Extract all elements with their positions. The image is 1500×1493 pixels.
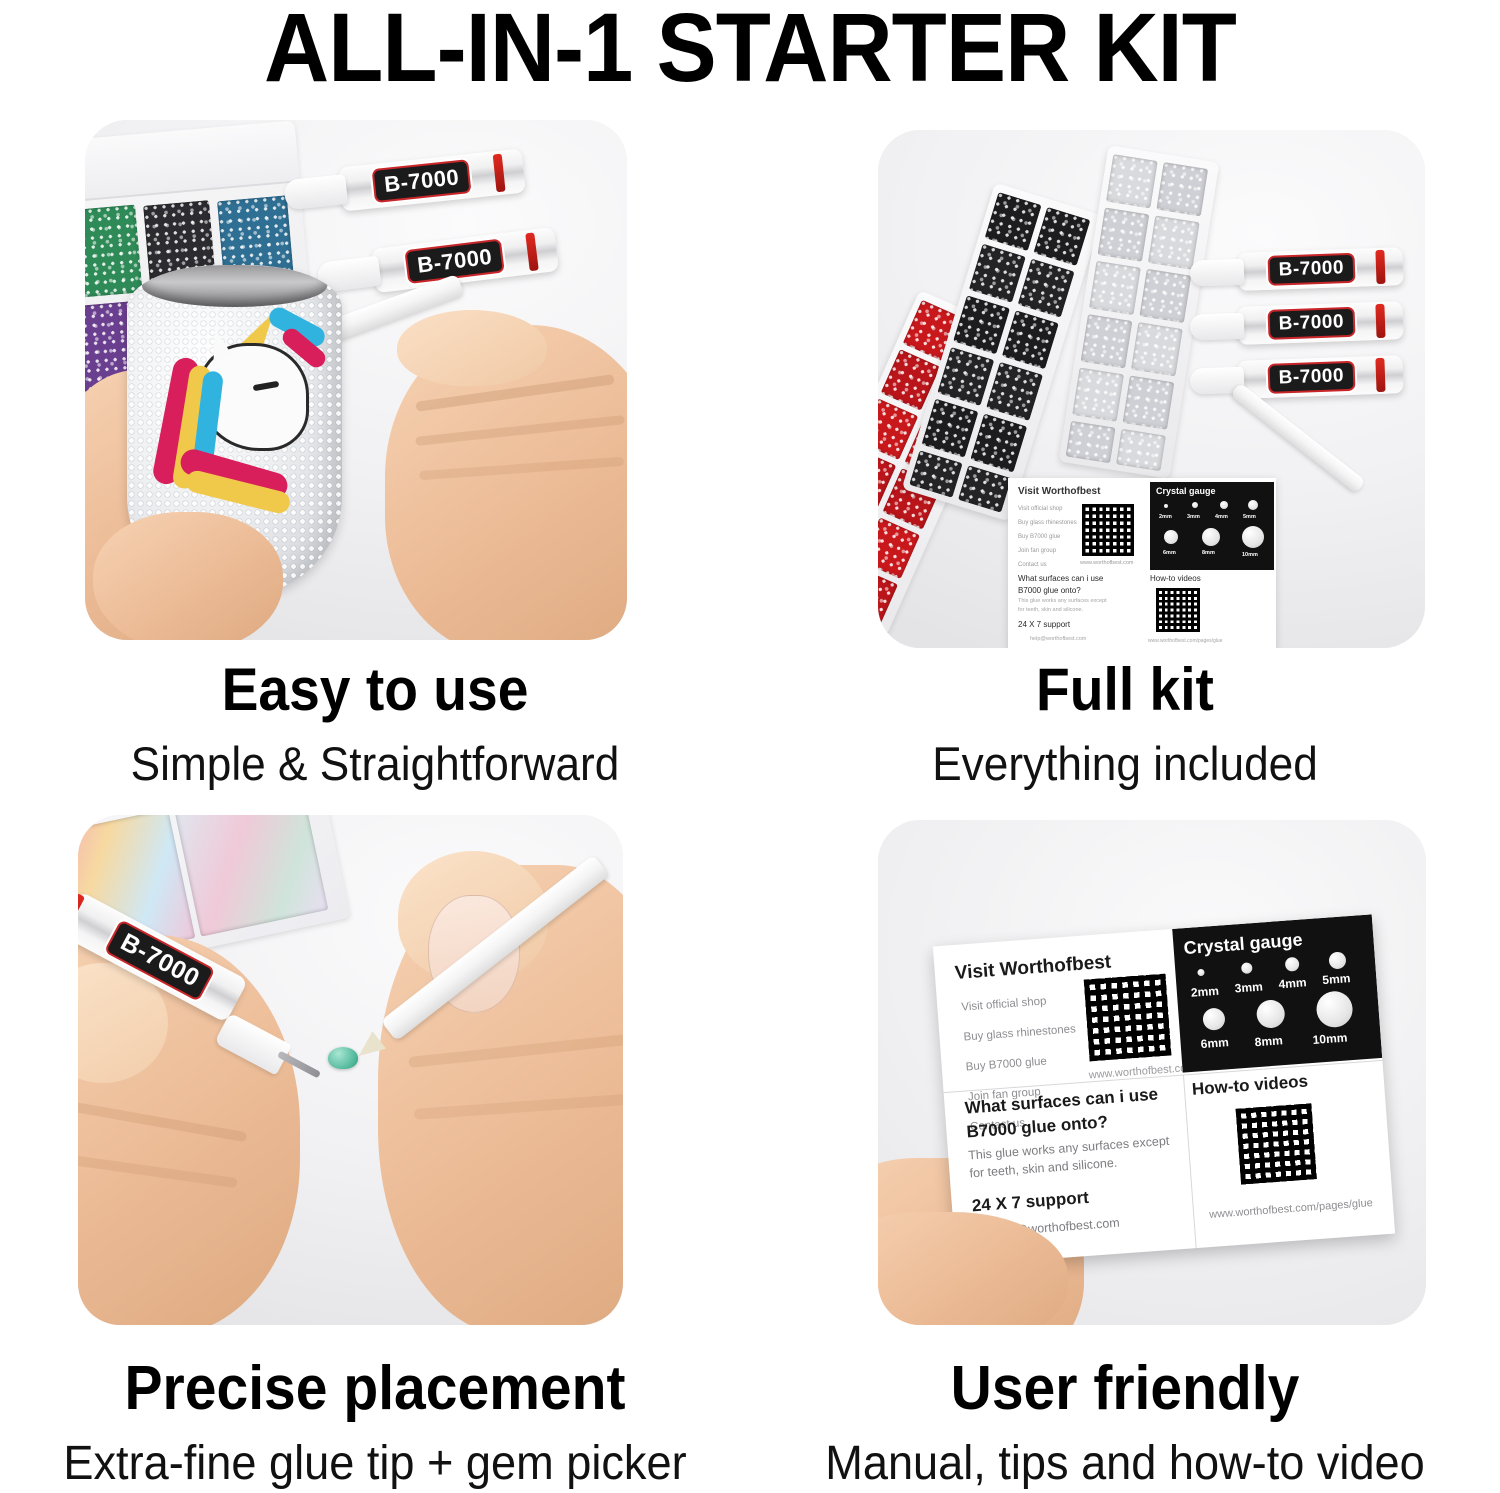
caption-sub-user-friendly: Manual, tips and how-to video bbox=[773, 1440, 1478, 1488]
tray-cell bbox=[1139, 269, 1191, 323]
card-mini-howto-heading: How-to videos bbox=[1150, 574, 1201, 583]
glue-nozzle bbox=[1190, 313, 1245, 341]
photo-full-kit: B-7000 B-7000 B-7000 Visit Worthofbest V… bbox=[878, 130, 1425, 648]
card-mini-url: www.worthofbest.com bbox=[1080, 560, 1134, 566]
gauge-label-5mm: 5mm bbox=[1243, 514, 1256, 520]
gauge-dot-6mm bbox=[1202, 1007, 1226, 1031]
gauge-label-3mm: 3mm bbox=[1234, 980, 1263, 996]
gauge-label-8mm: 8mm bbox=[1254, 1033, 1283, 1049]
gauge-dot-5mm bbox=[1328, 951, 1346, 969]
bullet: Contact us bbox=[1018, 558, 1077, 572]
gauge-label-6mm: 6mm bbox=[1163, 550, 1176, 556]
gauge-dot-10mm bbox=[1242, 526, 1264, 548]
photo-user-friendly: Visit Worthofbest Visit official shop Bu… bbox=[878, 820, 1426, 1325]
tube-red-stripe bbox=[492, 153, 505, 192]
caption-sub-easy-to-use: Simple & Straightforward bbox=[23, 740, 728, 787]
card-mini-heading: Visit Worthofbest bbox=[1018, 486, 1100, 497]
qr-code-shop bbox=[1084, 974, 1172, 1062]
tray-cell bbox=[1148, 215, 1200, 269]
card-fold-vertical bbox=[1183, 1074, 1197, 1248]
card-mini-support: 24 X 7 support bbox=[1018, 620, 1070, 629]
tube-red-stripe bbox=[525, 232, 539, 272]
tray-cell bbox=[1018, 259, 1075, 318]
tray-cell bbox=[1002, 310, 1059, 369]
tray-cell bbox=[1131, 322, 1183, 376]
tube-red-stripe bbox=[1375, 250, 1385, 284]
gauge-dot-8mm bbox=[1202, 528, 1220, 546]
page-title: ALL-IN-1 STARTER KIT bbox=[53, 0, 1448, 101]
tray-cell bbox=[1089, 261, 1141, 315]
gauge-label-5mm: 5mm bbox=[1322, 971, 1351, 987]
bullet: Join fan group bbox=[1018, 544, 1077, 558]
fingers bbox=[93, 512, 283, 640]
gauge-dot-6mm bbox=[1164, 530, 1178, 544]
tumbler-rim bbox=[142, 265, 327, 307]
crystal-gauge-mini: Crystal gauge 2mm 3mm 4mm 5mm 6mm 8mm 10… bbox=[1150, 482, 1274, 570]
tray-cell bbox=[174, 815, 329, 937]
b7000-glue-tube: B-7000 bbox=[1237, 301, 1403, 345]
photo-precise-placement: B-7000 bbox=[78, 815, 623, 1325]
b7000-glue-tube: B-7000 bbox=[1237, 247, 1403, 291]
qr-code bbox=[1082, 504, 1134, 556]
tray-cell bbox=[1066, 421, 1116, 464]
instruction-card-mini: Visit Worthofbest Visit official shop Bu… bbox=[1008, 478, 1276, 648]
tube-red-stripe bbox=[1375, 304, 1385, 338]
tray-cell bbox=[986, 362, 1043, 421]
b7000-glue-tube: B-7000 bbox=[1237, 355, 1403, 399]
card-mini-howto-url: www.worthofbest.com/pages/glue bbox=[1148, 638, 1222, 644]
caption-heading-precise-placement: Precise placement bbox=[30, 1358, 720, 1420]
gauge-dot-2mm bbox=[1164, 504, 1168, 508]
tray-cell bbox=[878, 517, 920, 579]
tube-red-stripe bbox=[78, 893, 85, 935]
glue-label: B-7000 bbox=[1267, 307, 1355, 340]
gauge-label-2mm: 2mm bbox=[1159, 514, 1172, 520]
gauge-dot-3mm bbox=[1241, 962, 1253, 974]
gauge-label-8mm: 8mm bbox=[1202, 550, 1215, 556]
bullet: Buy B7000 glue bbox=[1018, 530, 1077, 544]
gauge-dot-3mm bbox=[1192, 502, 1198, 508]
gauge-label-10mm: 10mm bbox=[1312, 1030, 1348, 1047]
gauge-dot-8mm bbox=[1256, 999, 1286, 1029]
tray-cell bbox=[1122, 375, 1174, 429]
caption-heading-easy-to-use: Easy to use bbox=[30, 660, 720, 720]
glue-label: B-7000 bbox=[372, 159, 472, 203]
infographic-page: ALL-IN-1 STARTER KIT B-7000 B-7000 bbox=[0, 0, 1500, 1493]
thumb bbox=[397, 310, 547, 386]
glue-nozzle bbox=[1190, 259, 1245, 287]
gauge-title: Crystal gauge bbox=[1156, 486, 1216, 496]
tray-cell bbox=[1081, 314, 1133, 368]
glue-label: B-7000 bbox=[1267, 361, 1355, 394]
tray-cell bbox=[969, 244, 1026, 303]
gauge-dot-5mm bbox=[1248, 500, 1258, 510]
bullet: Visit official shop bbox=[1018, 502, 1077, 516]
qr-code bbox=[1156, 588, 1200, 632]
card-howto-url: www.worthofbest.com/pages/glue bbox=[1209, 1197, 1373, 1221]
tube-red-stripe bbox=[1375, 358, 1385, 392]
caption-heading-full-kit: Full kit bbox=[780, 660, 1470, 720]
tray-cell bbox=[1097, 207, 1149, 261]
tray-cell bbox=[1116, 429, 1166, 472]
tray-cell bbox=[921, 399, 978, 458]
gauge-label-4mm: 4mm bbox=[1278, 975, 1307, 991]
instruction-card: Visit Worthofbest Visit official shop Bu… bbox=[933, 914, 1395, 1265]
gauge-dot-2mm bbox=[1197, 969, 1204, 976]
gauge-label-6mm: 6mm bbox=[1200, 1035, 1229, 1051]
tray-cell bbox=[985, 192, 1042, 251]
card-mini-bullets: Visit official shop Buy glass rhinestone… bbox=[1018, 502, 1077, 572]
gauge-title: Crystal gauge bbox=[1183, 929, 1303, 959]
tray-cell bbox=[1033, 207, 1090, 266]
tray-cell bbox=[1106, 154, 1158, 208]
glue-label: B-7000 bbox=[1267, 253, 1355, 286]
tray-cell bbox=[937, 347, 994, 406]
card-mini-answer-1: This glue works any surfaces except bbox=[1018, 598, 1107, 604]
tray-cell bbox=[1156, 162, 1208, 216]
gauge-label-2mm: 2mm bbox=[1190, 984, 1219, 1000]
crystal-gauge: Crystal gauge 2mm 3mm 4mm 5mm 6mm 8mm 10… bbox=[1172, 914, 1382, 1072]
card-mini-answer-2: for teeth, skin and silicone. bbox=[1018, 607, 1083, 613]
bullet: Buy glass rhinestones bbox=[1018, 516, 1077, 530]
tray-cell bbox=[1072, 367, 1124, 421]
caption-sub-full-kit: Everything included bbox=[773, 740, 1478, 787]
tray-cell bbox=[970, 413, 1027, 472]
card-mini-question-2: B7000 glue onto? bbox=[1018, 586, 1081, 595]
photo-easy-to-use: B-7000 B-7000 bbox=[85, 120, 627, 640]
gauge-dot-4mm bbox=[1285, 957, 1300, 972]
card-support-heading: 24 X 7 support bbox=[971, 1188, 1089, 1217]
card-mini-question-1: What surfaces can i use bbox=[1018, 574, 1103, 583]
gauge-label-3mm: 3mm bbox=[1187, 514, 1200, 520]
gauge-dot-4mm bbox=[1220, 501, 1228, 509]
gauge-dot-10mm bbox=[1315, 990, 1354, 1029]
gauge-label-10mm: 10mm bbox=[1242, 552, 1258, 558]
card-mini-email: help@worthofbest.com bbox=[1030, 636, 1086, 642]
gauge-label-4mm: 4mm bbox=[1215, 514, 1228, 520]
caption-sub-precise-placement: Extra-fine glue tip + gem picker bbox=[23, 1440, 728, 1488]
tray-cell bbox=[958, 465, 1012, 513]
tray-cell bbox=[953, 295, 1010, 354]
caption-heading-user-friendly: User friendly bbox=[780, 1358, 1470, 1420]
tray-cell bbox=[909, 450, 963, 498]
qr-code-howto bbox=[1236, 1103, 1317, 1184]
card-howto-heading: How-to videos bbox=[1191, 1071, 1308, 1099]
gem-on-pencil-tip bbox=[328, 1047, 358, 1069]
